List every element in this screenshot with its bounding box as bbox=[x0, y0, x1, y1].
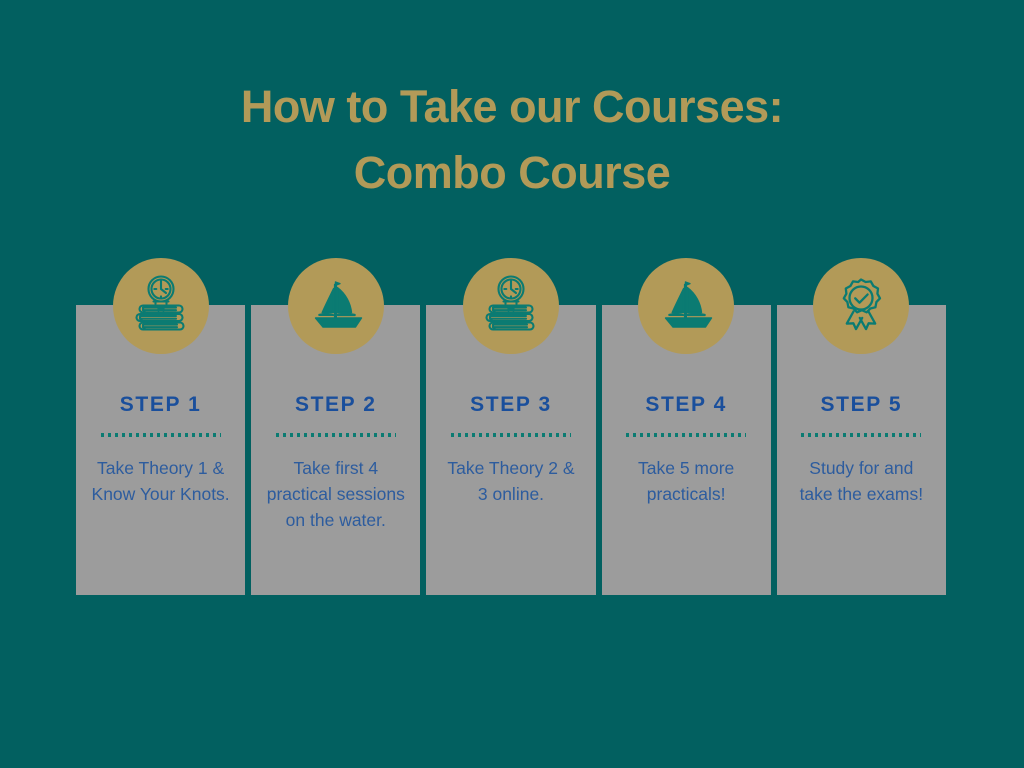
step-body-4: Take 5 more practicals! bbox=[616, 455, 757, 507]
step-body-1: Take Theory 1 & Know Your Knots. bbox=[90, 455, 231, 507]
step-body-2: Take first 4 practical sessions on the w… bbox=[265, 455, 406, 533]
books-with-clock-icon bbox=[113, 258, 209, 354]
sailboat-icon bbox=[288, 258, 384, 354]
step-body-5: Study for and take the exams! bbox=[791, 455, 932, 507]
step-card-5: STEP 5 Study for and take the exams! bbox=[777, 305, 946, 595]
dotted-divider bbox=[276, 433, 396, 437]
dotted-divider bbox=[801, 433, 921, 437]
step-body-3: Take Theory 2 & 3 online. bbox=[440, 455, 581, 507]
award-ribbon-check-icon bbox=[813, 258, 909, 354]
step-heading-3: STEP 3 bbox=[426, 393, 595, 417]
step-card-4: STEP 4 Take 5 more practicals! bbox=[602, 305, 771, 595]
dotted-divider bbox=[626, 433, 746, 437]
step-card-2: STEP 2 Take first 4 practical sessions o… bbox=[251, 305, 420, 595]
step-card-3: STEP 3 Take Theory 2 & 3 online. bbox=[426, 305, 595, 595]
step-heading-4: STEP 4 bbox=[602, 393, 771, 417]
title-line-1: How to Take our Courses: bbox=[0, 74, 1024, 140]
step-card-1: STEP 1 Take Theory 1 & Know Your Knots. bbox=[76, 305, 245, 595]
step-heading-5: STEP 5 bbox=[777, 393, 946, 417]
page-title: How to Take our Courses: Combo Course bbox=[0, 74, 1024, 206]
dotted-divider bbox=[451, 433, 571, 437]
step-heading-1: STEP 1 bbox=[76, 393, 245, 417]
title-line-2: Combo Course bbox=[0, 140, 1024, 206]
infographic-poster: How to Take our Courses: Combo Course bbox=[0, 0, 1024, 768]
books-with-clock-icon bbox=[463, 258, 559, 354]
sailboat-icon bbox=[638, 258, 734, 354]
steps-row: STEP 1 Take Theory 1 & Know Your Knots. … bbox=[76, 305, 948, 595]
dotted-divider bbox=[101, 433, 221, 437]
step-heading-2: STEP 2 bbox=[251, 393, 420, 417]
